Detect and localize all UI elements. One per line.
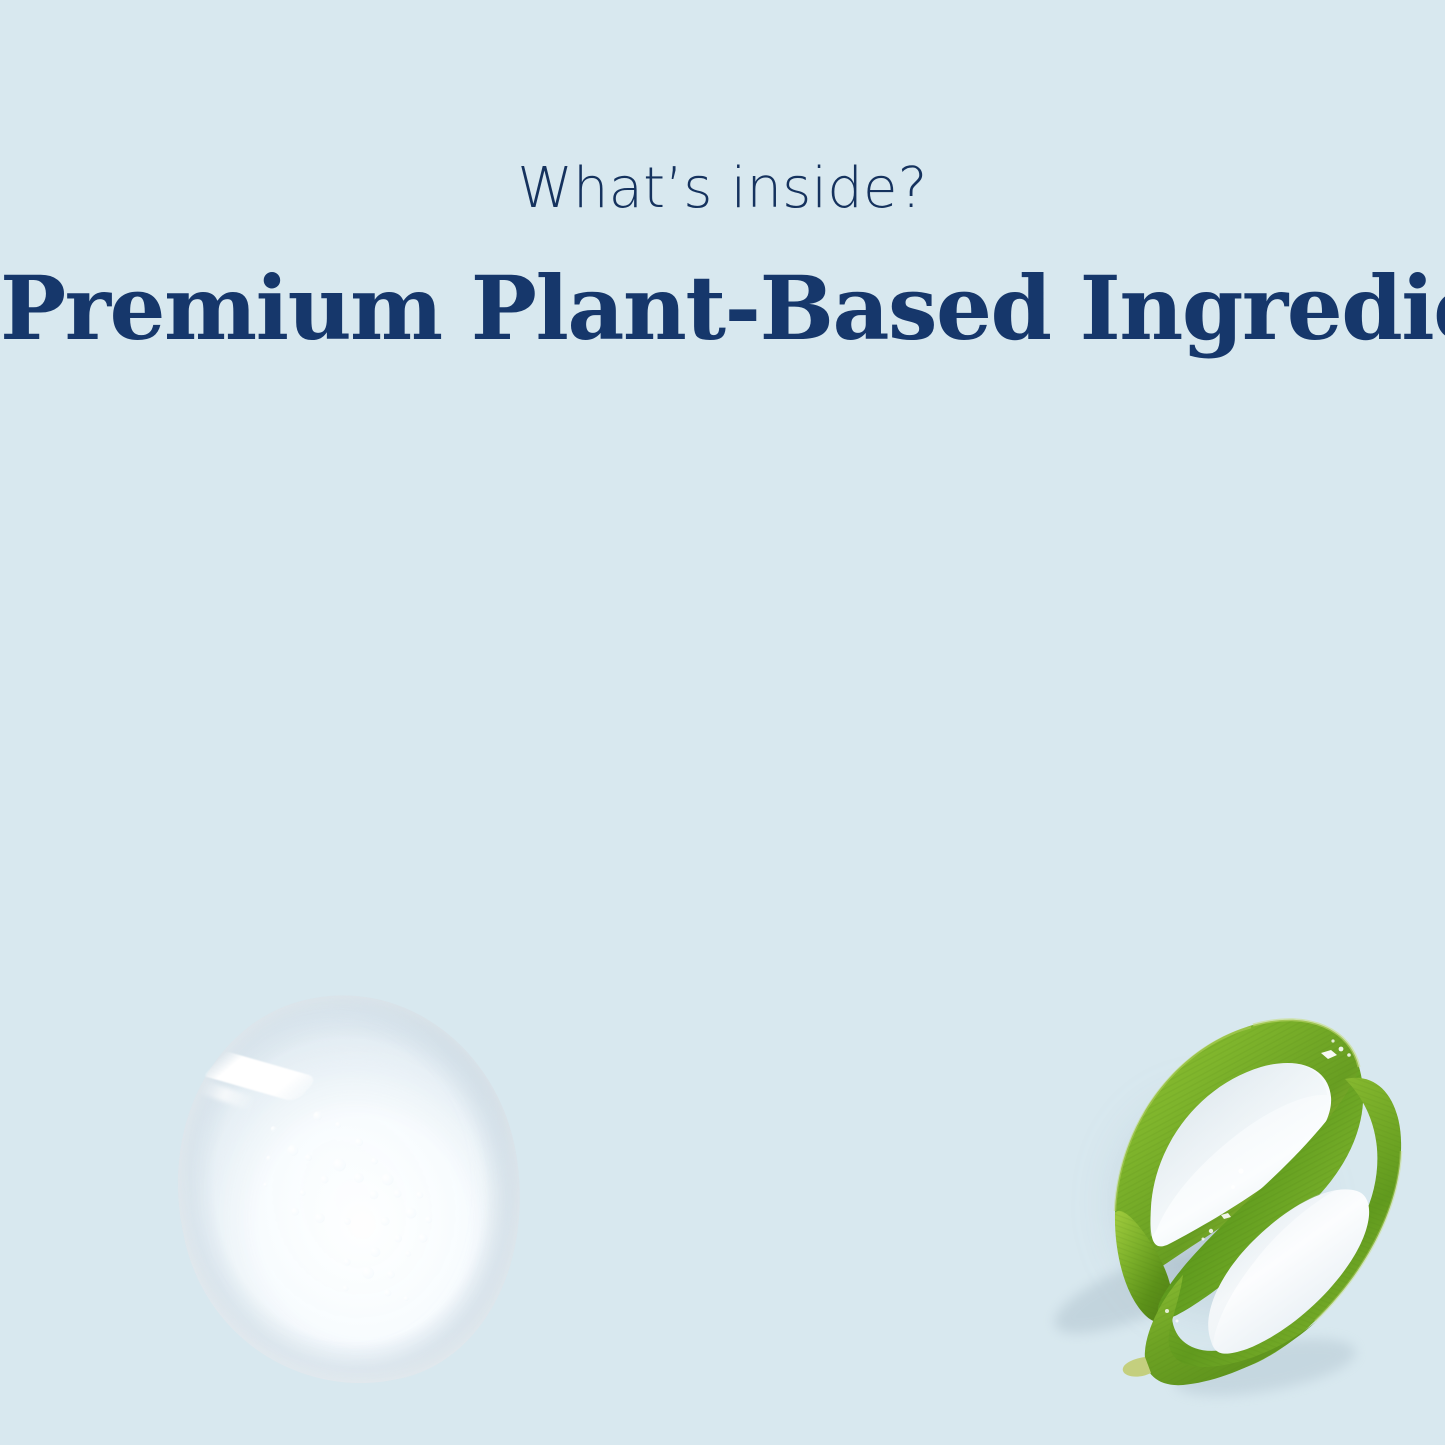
- ingredient-card-aloe-vera: aloe vera: [495, 480, 955, 960]
- eyebrow-text: What’s inside?: [0, 158, 1445, 220]
- ingredient-card-essential-oils: essential oils: [930, 480, 1400, 960]
- ingredient-card-vegan-glycerin: vegan glycerin: [48, 480, 538, 960]
- product-ingredients-graphic: What’s inside? Premium Plant-Based Ingre…: [0, 0, 1445, 1445]
- aloe-vera-image: [1015, 975, 1425, 1425]
- vegan-glycerin-image: [170, 985, 530, 1395]
- gel-rim: [144, 966, 554, 1414]
- aloe-peel-svg: [1015, 975, 1425, 1425]
- page-title: Premium Plant-Based Ingredients: [0, 262, 1445, 354]
- gel-blob: [144, 966, 554, 1414]
